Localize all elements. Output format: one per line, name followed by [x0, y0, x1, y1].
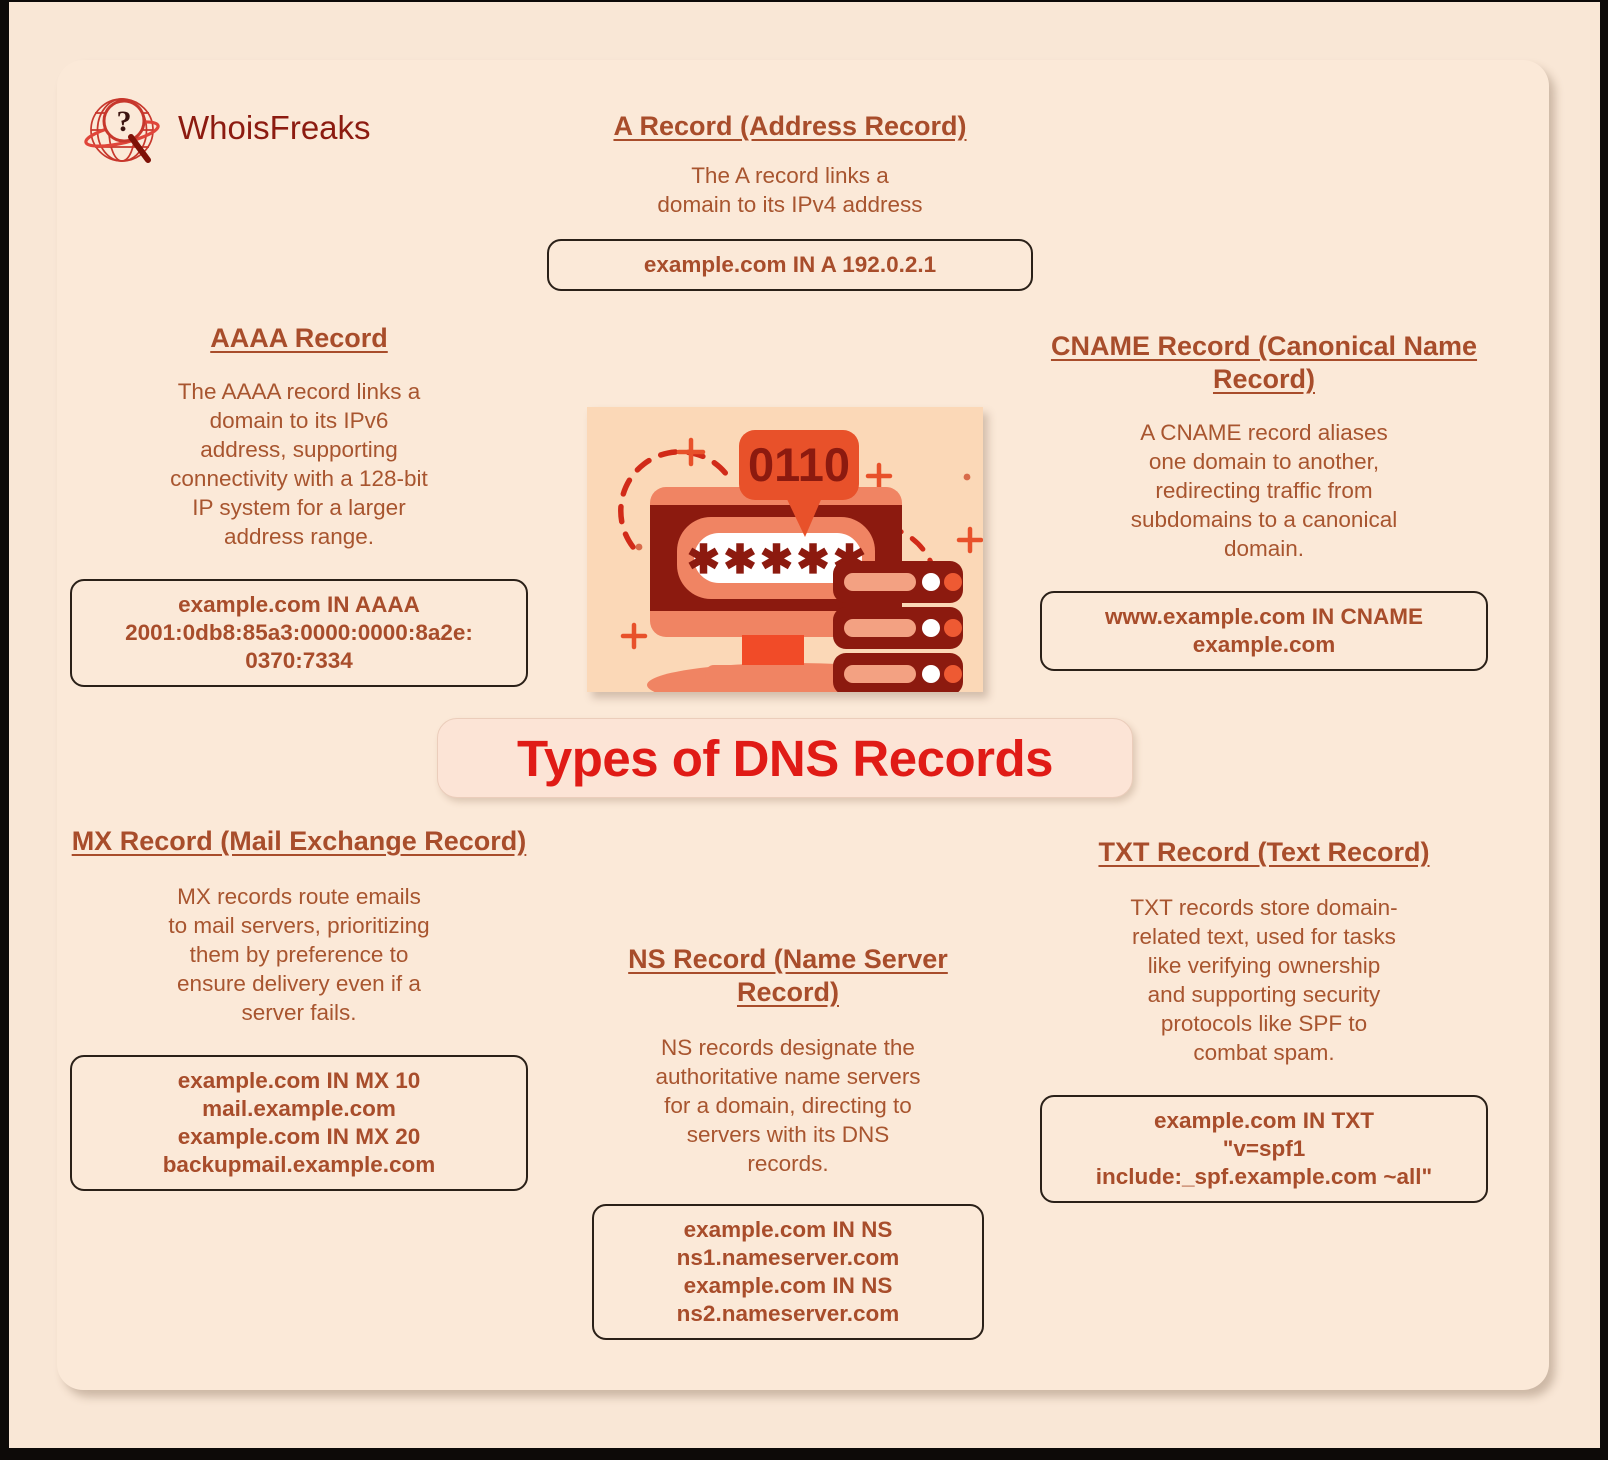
- record-code-aaaa: example.com IN AAAA 2001:0db8:85a3:0000:…: [70, 579, 528, 687]
- record-description-aaaa: The AAAA record links a domain to its IP…: [70, 377, 528, 551]
- infographic-page: ? WhoisFreaks A Record (Address Record) …: [0, 0, 1608, 1460]
- record-block-a: A Record (Address Record) The A record l…: [540, 110, 1040, 291]
- record-block-aaaa: AAAA Record The AAAA record links a doma…: [70, 322, 528, 687]
- record-block-mx: MX Record (Mail Exchange Record) MX reco…: [70, 825, 528, 1191]
- record-title-a: A Record (Address Record): [540, 110, 1040, 143]
- record-code-ns: example.com IN NS ns1.nameserver.com exa…: [592, 1204, 984, 1340]
- record-description-cname: A CNAME record aliases one domain to ano…: [1040, 418, 1488, 563]
- record-code-mx: example.com IN MX 10 mail.example.com ex…: [70, 1055, 528, 1191]
- brand-logo: ? WhoisFreaks: [82, 88, 371, 168]
- left-edge-strip: [0, 0, 9, 1460]
- record-title-aaaa: AAAA Record: [70, 322, 528, 355]
- record-description-a: The A record links a domain to its IPv4 …: [540, 161, 1040, 219]
- page-title-text: Types of DNS Records: [517, 729, 1053, 788]
- record-title-mx: MX Record (Mail Exchange Record): [70, 825, 528, 858]
- record-block-txt: TXT Record (Text Record) TXT records sto…: [1040, 836, 1488, 1203]
- record-code-cname: www.example.com IN CNAME example.com: [1040, 591, 1488, 671]
- record-code-txt: example.com IN TXT "v=spf1 include:_spf.…: [1040, 1095, 1488, 1203]
- svg-text:0110: 0110: [748, 438, 850, 491]
- record-title-txt: TXT Record (Text Record): [1040, 836, 1488, 869]
- record-title-cname: CNAME Record (Canonical Name Record): [1040, 330, 1488, 396]
- page-title: Types of DNS Records: [437, 718, 1133, 798]
- record-code-a: example.com IN A 192.0.2.1: [547, 239, 1033, 291]
- record-description-txt: TXT records store domain- related text, …: [1040, 893, 1488, 1067]
- record-description-ns: NS records designate the authoritative n…: [592, 1033, 984, 1178]
- record-title-ns: NS Record (Name Server Record): [592, 943, 984, 1009]
- brand-name: WhoisFreaks: [178, 109, 371, 147]
- bottom-edge-strip: [0, 1448, 1608, 1460]
- svg-text:?: ?: [117, 105, 132, 138]
- record-block-ns: NS Record (Name Server Record) NS record…: [592, 943, 984, 1340]
- globe-magnifier-question-icon: ?: [82, 88, 168, 168]
- record-description-mx: MX records route emails to mail servers,…: [70, 882, 528, 1027]
- top-edge-strip: [0, 0, 1608, 2]
- record-block-cname: CNAME Record (Canonical Name Record) A C…: [1040, 330, 1488, 671]
- dns-security-illustration: ✱✱✱✱✱ 0110: [587, 407, 983, 692]
- right-edge-strip: [1600, 0, 1608, 1460]
